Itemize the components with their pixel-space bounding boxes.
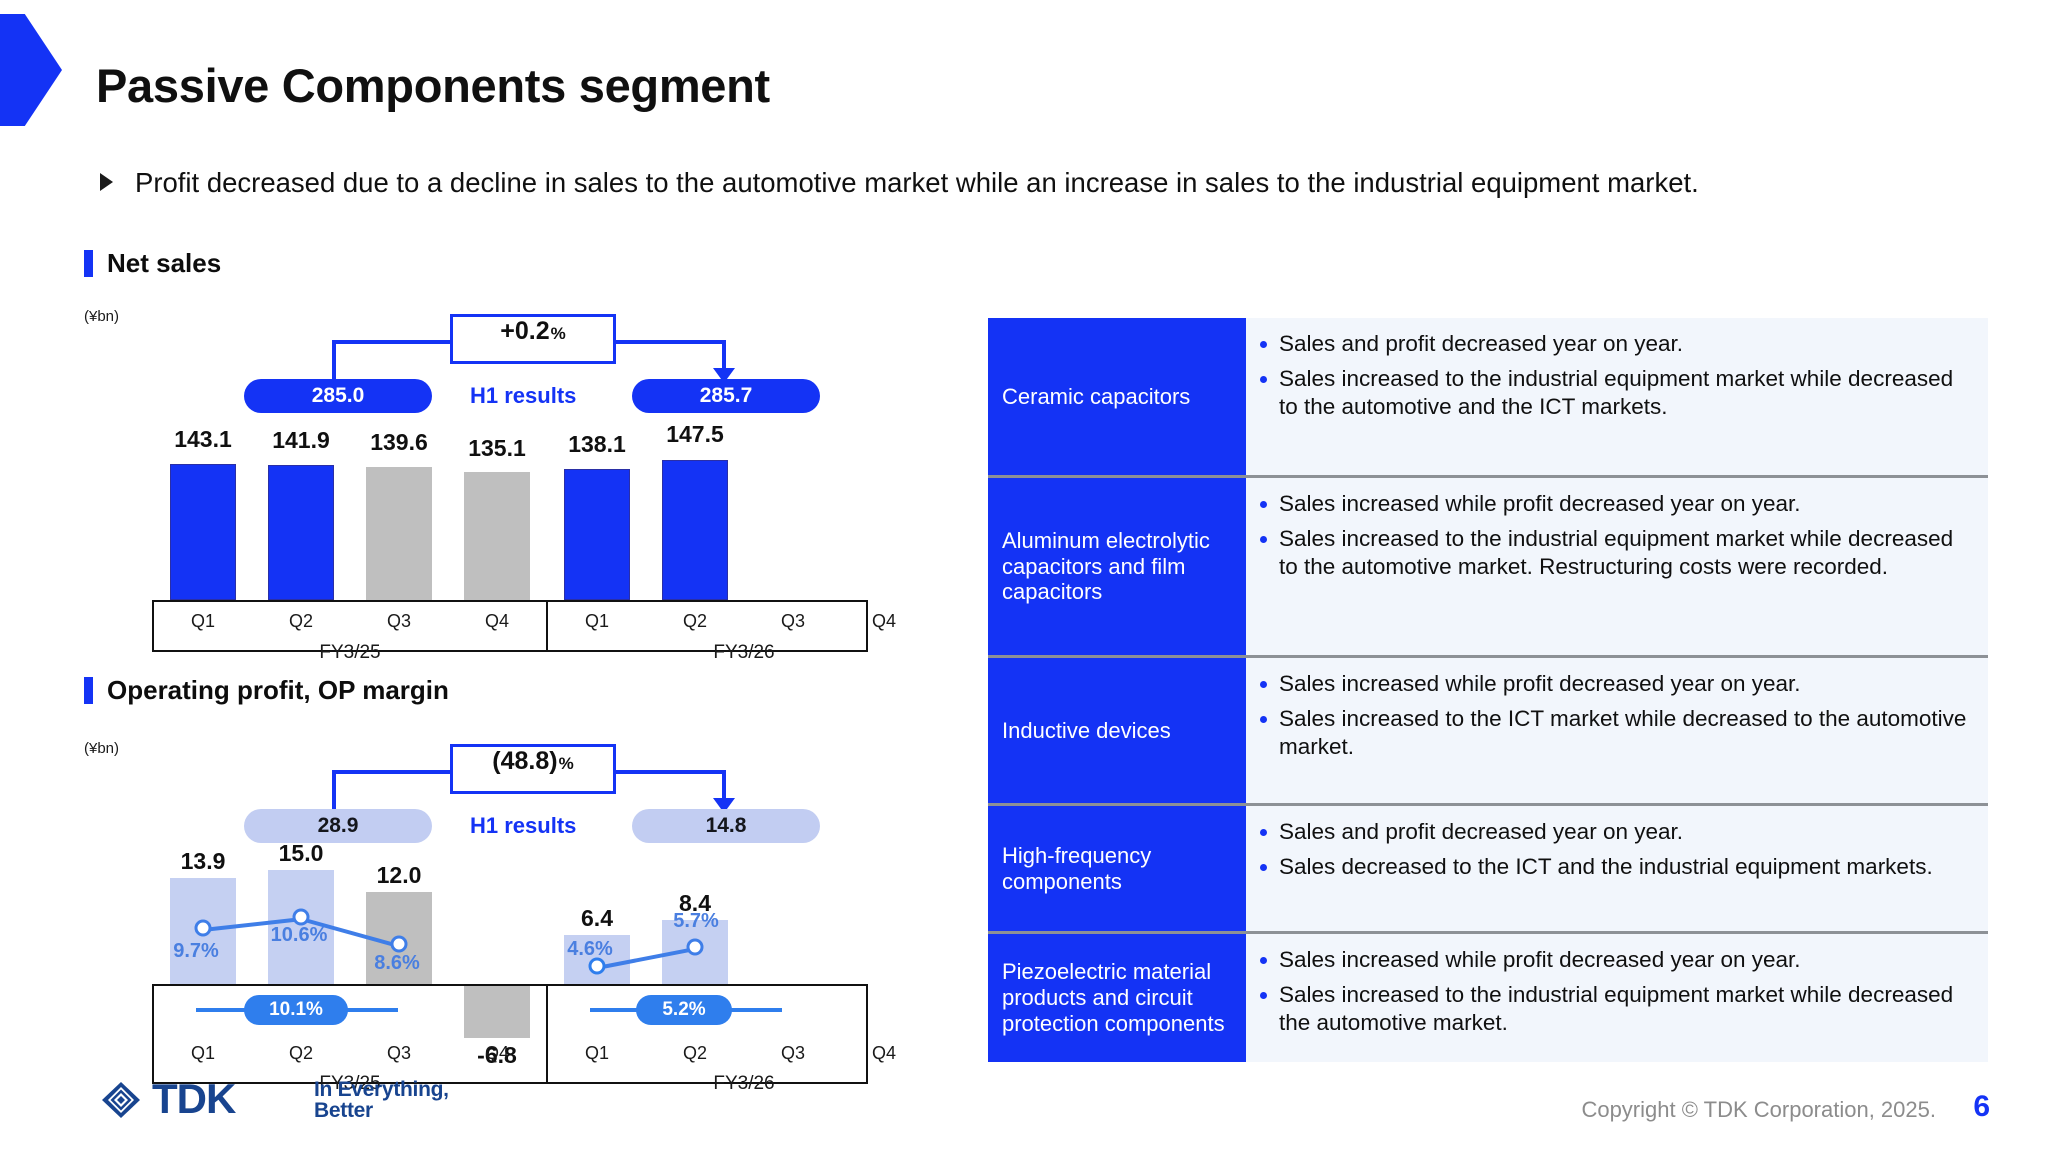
op-h1-label: H1 results <box>470 813 576 839</box>
net-sales-xtick-fy25-q1: Q1 <box>191 611 215 632</box>
list-item-text: Sales and profit decreased year on year. <box>1279 818 1683 846</box>
table-points-high-frequency: Sales and profit decreased year on year.… <box>1246 806 1988 931</box>
op-margin-value-fy26-q1: 4.6% <box>567 938 613 961</box>
net-sales-xtick-fy25-q4: Q4 <box>485 611 509 632</box>
bullet-dot-icon <box>1260 957 1267 964</box>
copyright-text: Copyright © TDK Corporation, 2025. <box>1581 1097 1936 1123</box>
net-sales-h1-fy25-pill: 285.0 <box>244 379 432 413</box>
op-value-fy25-q2: 15.0 <box>279 840 324 867</box>
table-row: Ceramic capacitors Sales and profit decr… <box>988 318 1988 478</box>
table-category-aluminum-electrolytic: Aluminum electrolytic capacitors and fil… <box>988 478 1246 655</box>
op-margin-value-fy25-q2: 10.6% <box>271 924 328 947</box>
op-margin-marker-fy26-q2 <box>687 939 704 956</box>
net-sales-yoy-suffix: % <box>551 324 566 344</box>
bullet-dot-icon <box>1260 681 1267 688</box>
bullet-dot-icon <box>1260 992 1267 999</box>
op-xtick-fy26-q1: Q1 <box>585 1043 609 1064</box>
table-points-ceramic-capacitors: Sales and profit decreased year on year.… <box>1246 318 1988 475</box>
op-margin-value-fy25-q1: 9.7% <box>173 940 219 963</box>
net-sales-bar-fy25-q2 <box>268 465 334 600</box>
op-xtick-fy25-q2: Q2 <box>289 1043 313 1064</box>
tdk-logo: TDK In Everything, Better <box>100 1078 449 1122</box>
list-item: Sales increased to the ICT market while … <box>1260 705 1972 761</box>
list-item-text: Sales increased to the industrial equipm… <box>1279 525 1972 581</box>
table-row: Inductive devices Sales increased while … <box>988 658 1988 806</box>
op-margin-value-fy25-q3: 8.6% <box>374 952 420 975</box>
section-label-net-sales: Net sales <box>107 248 221 279</box>
op-yoy-box: (48.8)% <box>450 744 616 794</box>
op-unit-label: (¥bn) <box>84 740 119 757</box>
bullet-dot-icon <box>1260 376 1267 383</box>
net-sales-xtick-fy26-q3: Q3 <box>781 611 805 632</box>
op-xtick-fy26-q3: Q3 <box>781 1043 805 1064</box>
corner-arrow-accent <box>0 14 62 126</box>
net-sales-xtick-fy26-q2: Q2 <box>683 611 707 632</box>
tdk-tagline-line1: In Everything, <box>314 1079 449 1100</box>
net-sales-bar-fy26-q2 <box>662 460 728 600</box>
op-xtick-fy26-q4: Q4 <box>872 1043 896 1064</box>
list-item-text: Sales increased while profit decreased y… <box>1279 946 1801 974</box>
table-points-piezoelectric: Sales increased while profit decreased y… <box>1246 934 1988 1062</box>
list-item: Sales increased while profit decreased y… <box>1260 946 1972 974</box>
net-sales-value-fy26-q2: 147.5 <box>666 421 724 448</box>
connector-left-horizontal <box>332 340 452 344</box>
table-category-ceramic-capacitors: Ceramic capacitors <box>988 318 1246 475</box>
op-h1-fy26-pill: 14.8 <box>632 809 820 843</box>
net-sales-group-fy26: FY3/26 <box>713 642 774 664</box>
table-points-aluminum-electrolytic: Sales increased while profit decreased y… <box>1246 478 1988 655</box>
op-axis-divider <box>546 984 548 1084</box>
net-sales-xtick-fy26-q1: Q1 <box>585 611 609 632</box>
net-sales-xtick-fy26-q4: Q4 <box>872 611 896 632</box>
section-label-op: Operating profit, OP margin <box>107 675 449 706</box>
list-item: Sales increased to the industrial equipm… <box>1260 365 1972 421</box>
lead-bullet: Profit decreased due to a decline in sal… <box>100 164 1900 201</box>
op-margin-value-fy26-q2: 5.7% <box>673 910 719 933</box>
bullet-dot-icon <box>1260 864 1267 871</box>
net-sales-bar-fy25-q3 <box>366 467 432 600</box>
net-sales-value-fy25-q2: 141.9 <box>272 427 330 454</box>
net-sales-axis-divider <box>546 600 548 652</box>
op-connector-right-horizontal <box>614 770 726 774</box>
op-xtick-fy26-q2: Q2 <box>683 1043 707 1064</box>
op-yoy-value: (48.8) <box>492 747 557 776</box>
op-margin-marker-fy25-q3 <box>391 936 408 953</box>
lead-bullet-text: Profit decreased due to a decline in sal… <box>135 164 1699 201</box>
table-points-inductive-devices: Sales increased while profit decreased y… <box>1246 658 1988 803</box>
table-category-piezoelectric: Piezoelectric material products and circ… <box>988 934 1246 1062</box>
list-item-text: Sales increased while profit decreased y… <box>1279 490 1801 518</box>
net-sales-xtick-fy25-q2: Q2 <box>289 611 313 632</box>
net-sales-h1-label: H1 results <box>470 383 576 409</box>
list-item: Sales increased while profit decreased y… <box>1260 670 1972 698</box>
list-item: Sales and profit decreased year on year. <box>1260 330 1972 358</box>
list-item-text: Sales increased to the industrial equipm… <box>1279 365 1972 421</box>
list-item-text: Sales increased to the ICT market while … <box>1279 705 1972 761</box>
op-margin-marker-fy25-q2 <box>293 909 310 926</box>
op-h1-fy25-pill: 28.9 <box>244 809 432 843</box>
page-number: 6 <box>1973 1090 1990 1124</box>
section-heading-net-sales: Net sales <box>84 248 221 279</box>
net-sales-yoy-value: +0.2 <box>500 317 549 346</box>
triangle-bullet-icon <box>100 173 113 191</box>
op-chart: (¥bn) (48.8)% 28.9 H1 results 14.8 13.9 … <box>84 728 924 1088</box>
op-plot: 13.9 15.0 12.0 6.4 8.4 9.7% 10.6% 8.6% 4… <box>84 854 924 984</box>
table-row: High-frequency components Sales and prof… <box>988 806 1988 934</box>
op-value-fy25-q3: 12.0 <box>377 862 422 889</box>
net-sales-value-fy25-q1: 143.1 <box>174 426 232 453</box>
net-sales-yoy-box: +0.2% <box>450 314 616 364</box>
section-heading-op: Operating profit, OP margin <box>84 675 449 706</box>
tdk-tagline: In Everything, Better <box>314 1079 449 1122</box>
op-xtick-fy25-q4: Q4 <box>485 1043 509 1064</box>
op-group-fy26: FY3/26 <box>713 1073 774 1095</box>
net-sales-xtick-fy25-q3: Q3 <box>387 611 411 632</box>
slide-root: Passive Components segment Profit decrea… <box>0 0 2048 1152</box>
connector-left-vertical <box>332 340 336 380</box>
op-margin-marker-fy25-q1 <box>195 920 212 937</box>
tdk-wordmark-icon: TDK <box>152 1078 304 1122</box>
table-category-high-frequency: High-frequency components <box>988 806 1246 931</box>
net-sales-value-fy25-q4: 135.1 <box>468 435 526 462</box>
tdk-diamond-icon <box>100 1080 142 1120</box>
op-h1-margin-fy26-pill: 5.2% <box>636 995 732 1025</box>
list-item-text: Sales increased to the industrial equipm… <box>1279 981 1972 1037</box>
net-sales-bar-fy26-q1 <box>564 469 630 600</box>
bullet-dot-icon <box>1260 829 1267 836</box>
op-h1-fy25-whisker-right <box>340 1008 398 1012</box>
op-connector-left-vertical <box>332 770 336 810</box>
page-title: Passive Components segment <box>96 58 770 113</box>
bullet-dot-icon <box>1260 536 1267 543</box>
bullet-dot-icon <box>1260 716 1267 723</box>
section-bar-icon <box>84 250 93 277</box>
op-value-fy25-q1: 13.9 <box>181 848 226 875</box>
op-h1-fy26-whisker-right <box>726 1008 782 1012</box>
net-sales-value-fy26-q1: 138.1 <box>568 431 626 458</box>
segment-commentary-table: Ceramic capacitors Sales and profit decr… <box>988 318 1988 1062</box>
net-sales-unit-label: (¥bn) <box>84 308 119 325</box>
net-sales-plot: 143.1 141.9 139.6 135.1 138.1 147.5 <box>84 424 924 600</box>
list-item: Sales increased to the industrial equipm… <box>1260 981 1972 1037</box>
op-value-fy26-q1: 6.4 <box>581 905 613 932</box>
bullet-dot-icon <box>1260 341 1267 348</box>
connector-right-horizontal <box>614 340 726 344</box>
list-item: Sales and profit decreased year on year. <box>1260 818 1972 846</box>
net-sales-bar-fy25-q1 <box>170 464 236 600</box>
net-sales-value-fy25-q3: 139.6 <box>370 429 428 456</box>
op-connector-left-horizontal <box>332 770 452 774</box>
net-sales-h1-fy26-pill: 285.7 <box>632 379 820 413</box>
section-bar-icon-op <box>84 677 93 704</box>
svg-text:TDK: TDK <box>152 1078 236 1122</box>
table-row: Aluminum electrolytic capacitors and fil… <box>988 478 1988 658</box>
list-item: Sales decreased to the ICT and the indus… <box>1260 853 1972 881</box>
net-sales-group-fy25: FY3/25 <box>319 642 380 664</box>
table-category-inductive-devices: Inductive devices <box>988 658 1246 803</box>
bullet-dot-icon <box>1260 501 1267 508</box>
op-yoy-suffix: % <box>559 754 574 774</box>
list-item-text: Sales and profit decreased year on year. <box>1279 330 1683 358</box>
op-xtick-fy25-q1: Q1 <box>191 1043 215 1064</box>
list-item: Sales increased to the industrial equipm… <box>1260 525 1972 581</box>
op-h1-margin-fy25-pill: 10.1% <box>244 995 348 1025</box>
net-sales-bar-fy25-q4 <box>464 472 530 600</box>
table-row: Piezoelectric material products and circ… <box>988 934 1988 1062</box>
tdk-tagline-line2: Better <box>314 1100 449 1121</box>
op-xtick-fy25-q3: Q3 <box>387 1043 411 1064</box>
list-item: Sales increased while profit decreased y… <box>1260 490 1972 518</box>
list-item-text: Sales increased while profit decreased y… <box>1279 670 1801 698</box>
net-sales-chart: (¥bn) +0.2% 285.0 H1 results 285.7 143.1… <box>84 300 924 660</box>
list-item-text: Sales decreased to the ICT and the indus… <box>1279 853 1933 881</box>
